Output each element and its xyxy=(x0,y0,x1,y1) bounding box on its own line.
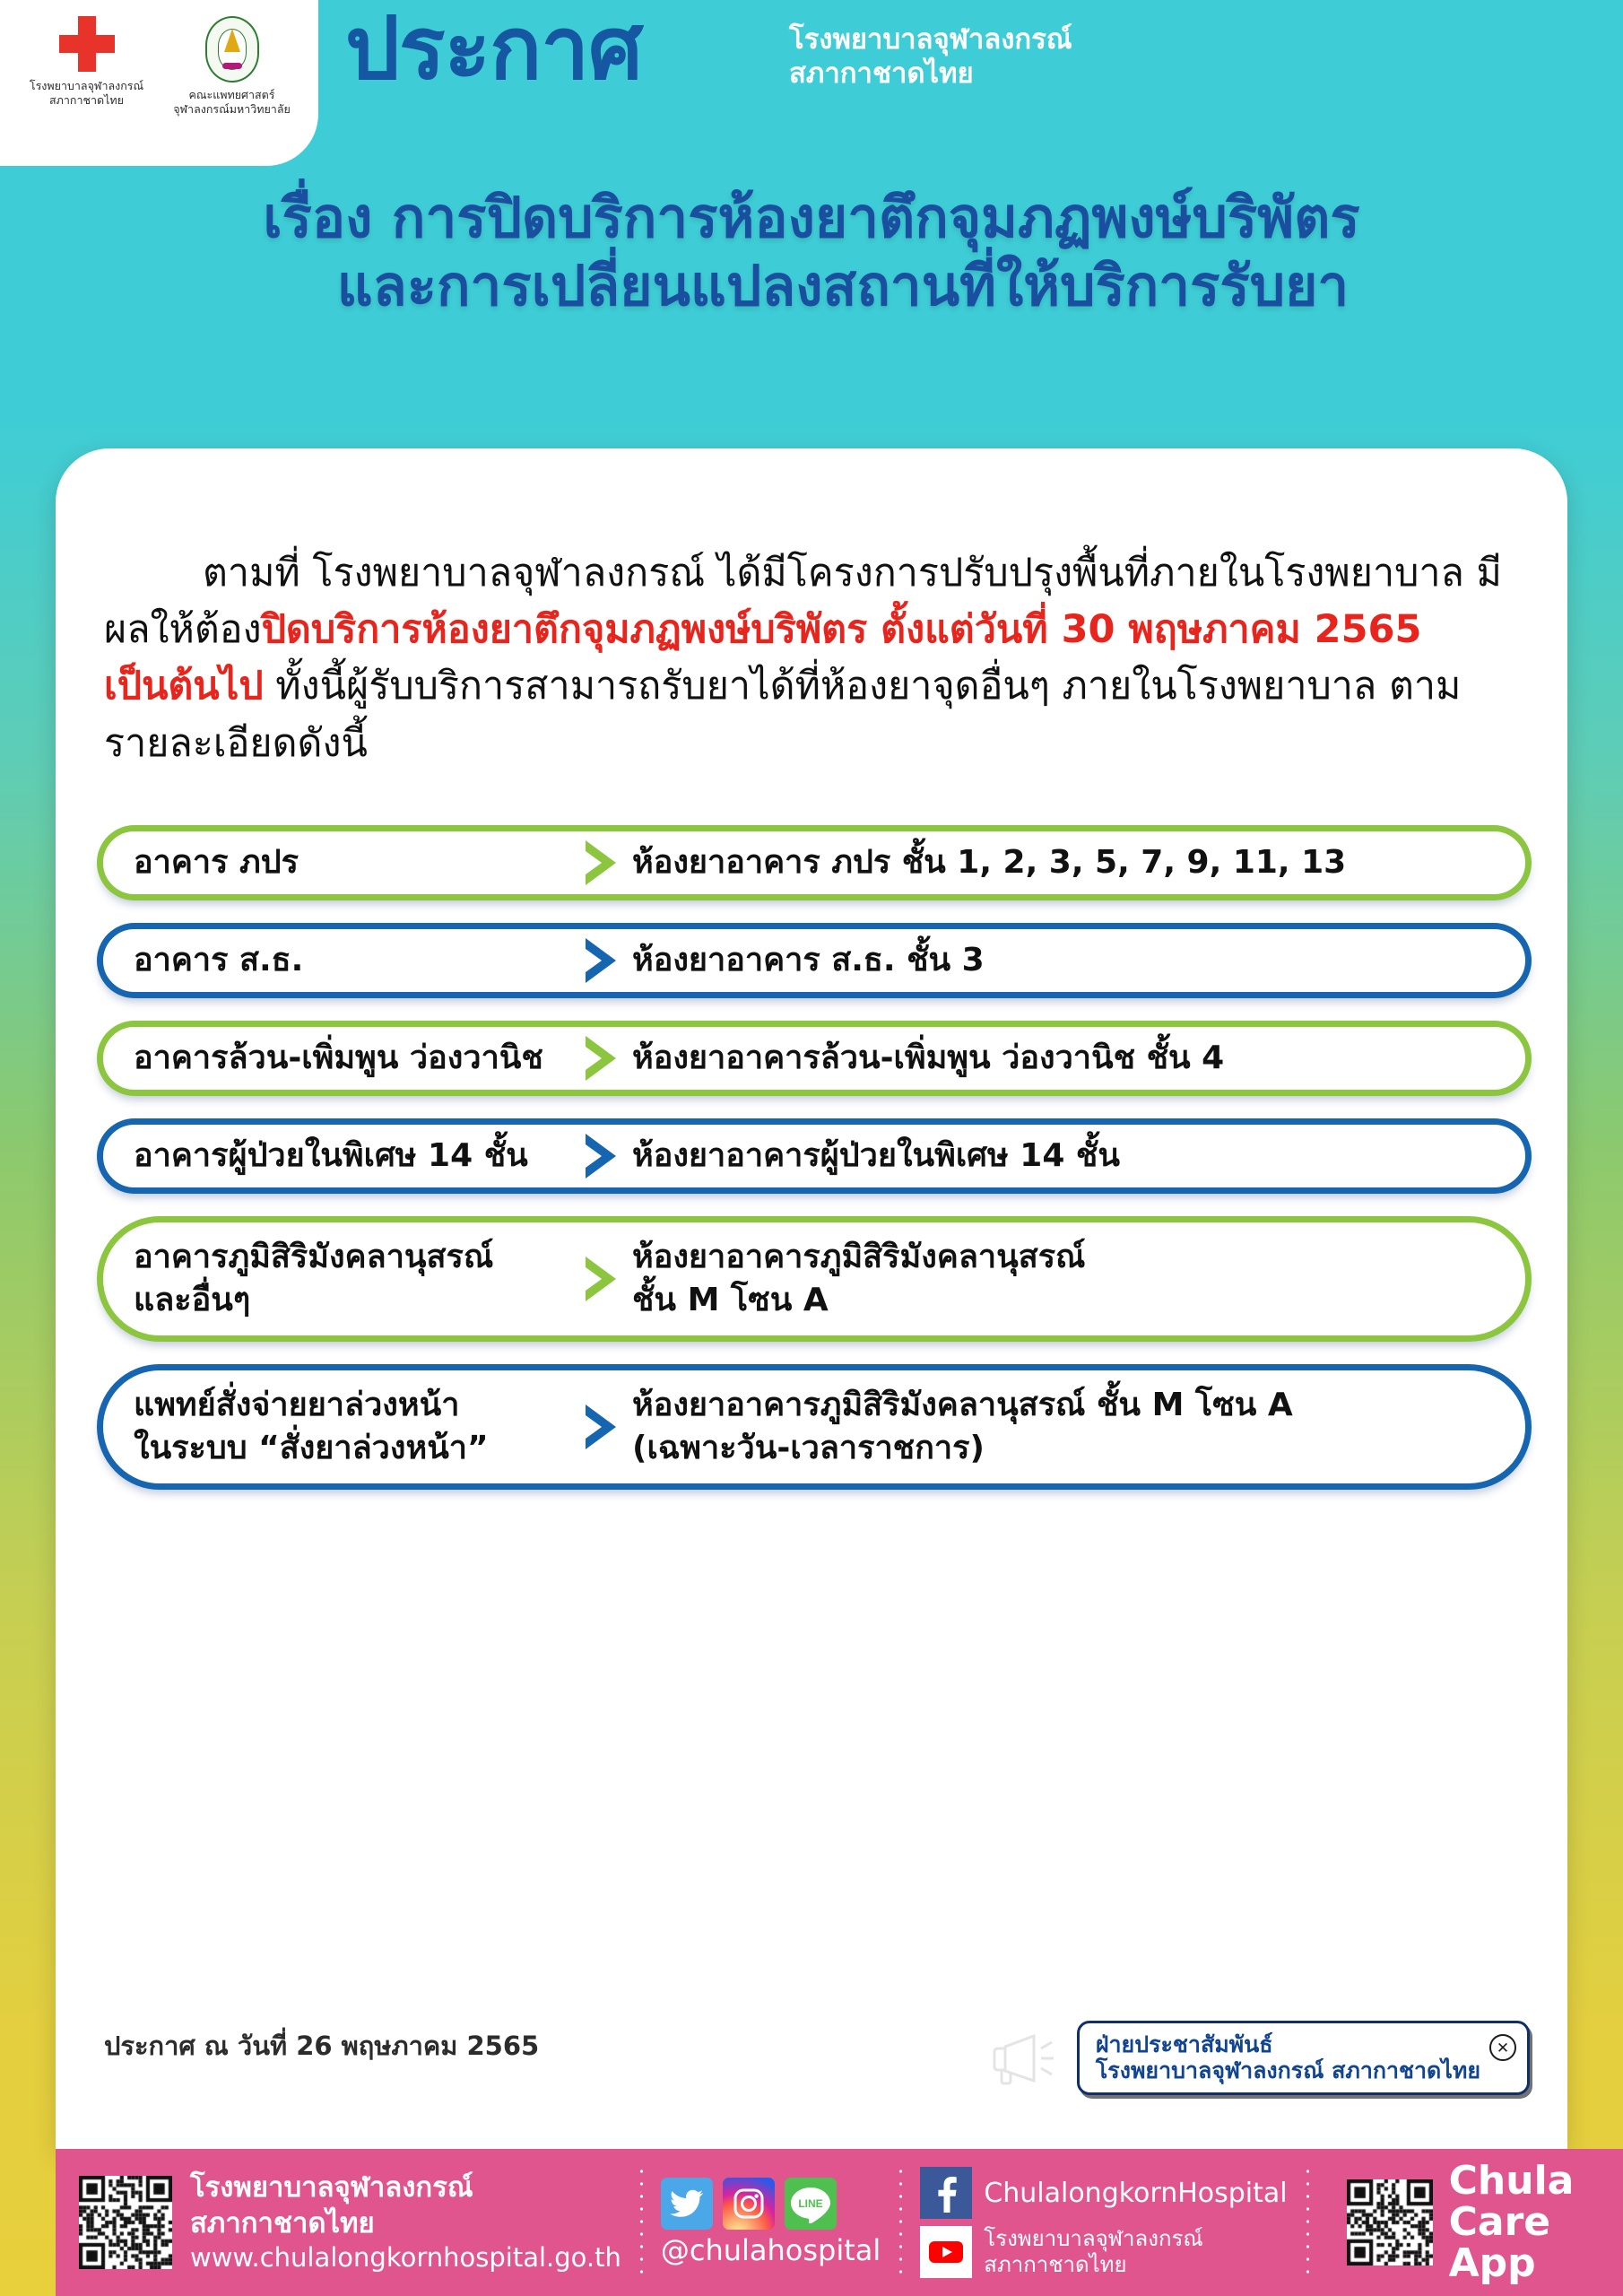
footer-divider-2 xyxy=(898,2165,902,2280)
location-row-source: แพทย์สั่งจ่ายยาล่วงหน้าในระบบ “สั่งยาล่ว… xyxy=(103,1384,580,1470)
title-line-1: เรื่อง การปิดบริการห้องยาตึกจุมภฏพงษ์บริ… xyxy=(0,184,1623,252)
footer-divider-3 xyxy=(1306,2165,1309,2280)
location-row-destination-line-1: ห้องยาอาคาร ภปร ชั้น 1, 2, 3, 5, 7, 9, 1… xyxy=(632,844,1346,881)
red-cross-icon xyxy=(59,16,115,72)
title-line-2: และการเปลี่ยนแปลงสถานที่ให้บริการรับยา xyxy=(0,252,1623,320)
poster-title: เรื่อง การปิดบริการห้องยาตึกจุมภฏพงษ์บริ… xyxy=(0,184,1623,319)
svg-text:LINE: LINE xyxy=(798,2197,822,2210)
announcement-heading: ประกาศ xyxy=(345,5,642,91)
facebook-label: ChulalongkornHospital xyxy=(984,2178,1287,2209)
youtube-row[interactable]: โรงพยาบาลจุฬาลงกรณ์ สภากาชาดไทย xyxy=(920,2226,1287,2278)
location-row-destination-line-1: ห้องยาอาคารภูมิสิริมังคลานุสรณ์ xyxy=(632,1239,1085,1275)
chevron-right-icon xyxy=(580,1032,621,1084)
location-row-destination: ห้องยาอาคารผู้ป่วยในพิเศษ 14 ชั้น xyxy=(632,1135,1525,1178)
youtube-icon[interactable] xyxy=(920,2226,972,2278)
footer-bar: โรงพยาบาลจุฬาลงกรณ์ สภากาชาดไทย www.chul… xyxy=(56,2149,1623,2296)
chula-seal-logo-block: คณะแพทยศาสตร์ จุฬาลงกรณ์มหาวิทยาลัย xyxy=(169,16,295,116)
instagram-camera-glyph xyxy=(733,2187,765,2220)
app-qr-code[interactable] xyxy=(1347,2179,1433,2266)
website-qr-code[interactable] xyxy=(79,2176,172,2269)
chevron-right-icon xyxy=(580,1253,621,1305)
pr-badge-line-2: โรงพยาบาลจุฬาลงกรณ์ สภากาชาดไทย xyxy=(1096,2057,1480,2083)
location-row-source: อาคารล้วน-เพิ่มพูน ว่องวานิช xyxy=(103,1037,580,1080)
seal-pagoda-shape xyxy=(224,29,240,52)
youtube-play-glyph xyxy=(928,2239,964,2265)
location-row: อาคารผู้ป่วยในพิเศษ 14 ชั้นห้องยาอาคารผู… xyxy=(97,1118,1532,1194)
location-rows: อาคาร ภปรห้องยาอาคาร ภปร ชั้น 1, 2, 3, 5… xyxy=(97,825,1532,1512)
organization-name: โรงพยาบาลจุฬาลงกรณ์ สภากาชาดไทย xyxy=(789,23,1072,91)
twitter-bird-glyph xyxy=(670,2189,704,2218)
location-row-source-line-1: อาคาร ภปร xyxy=(134,844,299,881)
location-row-source-line-1: อาคารผู้ป่วยในพิเศษ 14 ชั้น xyxy=(134,1137,528,1174)
facebook-row[interactable]: ChulalongkornHospital xyxy=(920,2167,1287,2219)
location-row-source: อาคาร ภปร xyxy=(103,841,580,884)
location-row-source-line-1: อาคารล้วน-เพิ่มพูน ว่องวานิช xyxy=(134,1039,543,1076)
location-row: อาคาร ภปรห้องยาอาคาร ภปร ชั้น 1, 2, 3, 5… xyxy=(97,825,1532,900)
location-row: อาคารภูมิสิริมังคลานุสรณ์และอื่นๆห้องยาอ… xyxy=(97,1216,1532,1342)
pr-department-zone: ฝ่ายประชาสัมพันธ์ โรงพยาบาลจุฬาลงกรณ์ สภ… xyxy=(985,2021,1530,2095)
footer-website-segment: โรงพยาบาลจุฬาลงกรณ์ สภากาชาดไทย www.chul… xyxy=(56,2149,621,2296)
footer-app-segment: Chula Care App xyxy=(1327,2149,1623,2296)
location-row-source: อาคารผู้ป่วยในพิเศษ 14 ชั้น xyxy=(103,1135,580,1178)
line-bubble-glyph: LINE xyxy=(787,2184,834,2223)
youtube-label-line-2: สภากาชาดไทย xyxy=(984,2252,1202,2278)
footer-fb-yt-segment: ChulalongkornHospital โรงพยาบาลจุฬาลงกรณ… xyxy=(920,2149,1287,2296)
body-paragraph: ตามที่ โรงพยาบาลจุฬาลงกรณ์ ได้มีโครงการป… xyxy=(104,545,1521,772)
content-card: ตามที่ โรงพยาบาลจุฬาลงกรณ์ ได้มีโครงการป… xyxy=(56,448,1567,2149)
app-name-line-2: App xyxy=(1449,2243,1623,2284)
footer-website-url[interactable]: www.chulalongkornhospital.go.th xyxy=(190,2241,621,2275)
location-row-destination-line-1: ห้องยาอาคารผู้ป่วยในพิเศษ 14 ชั้น xyxy=(632,1137,1120,1174)
chula-seal-caption: คณะแพทยศาสตร์ จุฬาลงกรณ์มหาวิทยาลัย xyxy=(173,88,291,116)
chula-seal-caption-line2: จุฬาลงกรณ์มหาวิทยาลัย xyxy=(173,102,291,117)
location-row-destination: ห้องยาอาคาร ภปร ชั้น 1, 2, 3, 5, 7, 9, 1… xyxy=(632,841,1525,884)
social-icon-group: LINE xyxy=(661,2178,881,2230)
facebook-icon[interactable] xyxy=(920,2167,972,2219)
seal-base-shape xyxy=(222,63,242,69)
youtube-label-line-1: โรงพยาบาลจุฬาลงกรณ์ xyxy=(984,2226,1202,2252)
location-row-destination-line-2: (เฉพาะวัน-เวลาราชการ) xyxy=(632,1427,1502,1470)
location-row: อาคาร ส.ธ.ห้องยาอาคาร ส.ธ. ชั้น 3 xyxy=(97,923,1532,998)
announcement-date: ประกาศ ณ วันที่ 26 พฤษภาคม 2565 xyxy=(104,2025,539,2066)
location-row-source-line-1: อาคารภูมิสิริมังคลานุสรณ์ xyxy=(134,1239,493,1275)
close-icon[interactable]: ✕ xyxy=(1489,2034,1516,2061)
instagram-icon[interactable] xyxy=(723,2178,775,2230)
red-cross-caption: โรงพยาบาลจุฬาลงกรณ์ สภากาชาดไทย xyxy=(30,79,143,107)
logo-plate: โรงพยาบาลจุฬาลงกรณ์ สภากาชาดไทย คณะแพทยศ… xyxy=(0,0,318,166)
chevron-right-icon xyxy=(580,1130,621,1182)
pr-badge-line-1: ฝ่ายประชาสัมพันธ์ xyxy=(1096,2031,1480,2057)
youtube-label: โรงพยาบาลจุฬาลงกรณ์ สภากาชาดไทย xyxy=(984,2226,1202,2278)
footer-hospital-name: โรงพยาบาลจุฬาลงกรณ์ สภากาชาดไทย xyxy=(190,2170,621,2242)
header-band: โรงพยาบาลจุฬาลงกรณ์ สภากาชาดไทย คณะแพทยศ… xyxy=(0,0,1623,170)
red-cross-caption-line2: สภากาชาดไทย xyxy=(30,93,143,108)
twitter-icon[interactable] xyxy=(661,2178,713,2230)
megaphone-icon xyxy=(985,2031,1063,2086)
app-name-line-1: Chula Care xyxy=(1449,2161,1623,2243)
location-row-destination: ห้องยาอาคารภูมิสิริมังคลานุสรณ์ชั้น M โซ… xyxy=(632,1236,1525,1322)
pr-badge: ฝ่ายประชาสัมพันธ์ โรงพยาบาลจุฬาลงกรณ์ สภ… xyxy=(1077,2021,1530,2095)
app-name: Chula Care App xyxy=(1449,2161,1623,2285)
location-row-source-line-2: ในระบบ “สั่งยาล่วงหน้า” xyxy=(134,1427,580,1470)
location-row-source: อาคาร ส.ธ. xyxy=(103,939,580,982)
location-row-destination-line-1: ห้องยาอาคารล้วน-เพิ่มพูน ว่องวานิช ชั้น … xyxy=(632,1039,1224,1076)
red-cross-logo-block: โรงพยาบาลจุฬาลงกรณ์ สภากาชาดไทย xyxy=(24,16,150,107)
location-row-destination-line-2: ชั้น M โซน A xyxy=(632,1279,1502,1322)
location-row-destination-line-1: ห้องยาอาคารภูมิสิริมังคลานุสรณ์ ชั้น M โ… xyxy=(632,1387,1293,1423)
location-row-destination: ห้องยาอาคารภูมิสิริมังคลานุสรณ์ ชั้น M โ… xyxy=(632,1384,1525,1470)
location-row-source-line-1: แพทย์สั่งจ่ายยาล่วงหน้า xyxy=(134,1387,459,1423)
line-icon[interactable]: LINE xyxy=(785,2178,837,2230)
location-row: แพทย์สั่งจ่ายยาล่วงหน้าในระบบ “สั่งยาล่ว… xyxy=(97,1364,1532,1490)
facebook-f-glyph xyxy=(933,2173,959,2213)
organization-line-1: โรงพยาบาลจุฬาลงกรณ์ xyxy=(789,23,1072,57)
chula-seal-caption-line1: คณะแพทยศาสตร์ xyxy=(173,88,291,102)
location-row-source: อาคารภูมิสิริมังคลานุสรณ์และอื่นๆ xyxy=(103,1236,580,1322)
chevron-right-icon xyxy=(580,1401,621,1453)
red-cross-caption-line1: โรงพยาบาลจุฬาลงกรณ์ xyxy=(30,79,143,93)
poster-background: โรงพยาบาลจุฬาลงกรณ์ สภากาชาดไทย คณะแพทยศ… xyxy=(0,0,1623,2296)
location-row-destination: ห้องยาอาคาร ส.ธ. ชั้น 3 xyxy=(632,939,1525,982)
footer-social-segment: LINE @chulahospital xyxy=(661,2149,881,2296)
location-row-destination: ห้องยาอาคารล้วน-เพิ่มพูน ว่องวานิช ชั้น … xyxy=(632,1037,1525,1080)
location-row: อาคารล้วน-เพิ่มพูน ว่องวานิชห้องยาอาคารล… xyxy=(97,1021,1532,1096)
location-row-source-line-2: และอื่นๆ xyxy=(134,1279,580,1322)
chula-seal-icon xyxy=(205,16,259,83)
social-handle: @chulahospital xyxy=(661,2233,881,2267)
body-segment-3: ทั้งนี้ผู้รับบริการสามารถรับยาได้ที่ห้อง… xyxy=(104,664,1461,765)
organization-line-2: สภากาชาดไทย xyxy=(789,57,1072,91)
location-row-destination-line-1: ห้องยาอาคาร ส.ธ. ชั้น 3 xyxy=(632,942,985,978)
chevron-right-icon xyxy=(580,837,621,889)
footer-divider-1 xyxy=(639,2165,643,2280)
location-row-source-line-1: อาคาร ส.ธ. xyxy=(134,942,303,978)
chevron-right-icon xyxy=(580,935,621,987)
